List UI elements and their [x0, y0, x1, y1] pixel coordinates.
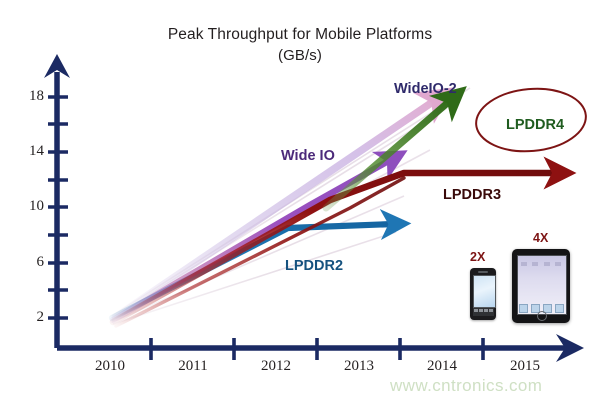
- tablet-home-button: [537, 311, 547, 321]
- series-label-wideio2: WideIO-2: [394, 81, 457, 97]
- chart-plot-area: [0, 0, 600, 403]
- chart-canvas: Peak Throughput for Mobile Platforms (GB…: [0, 0, 600, 403]
- tablet-multiplier-label: 4X: [533, 231, 548, 245]
- x-tick-label-2011: 2011: [166, 358, 220, 375]
- tablet-app-icons: [521, 261, 561, 267]
- phone-speaker: [478, 271, 488, 273]
- series-line-lpddr3-secondary: [116, 178, 404, 326]
- y-tick-label-6: 6: [14, 254, 44, 271]
- watermark: www.cntronics.com: [390, 376, 542, 396]
- x-tick-label-2012: 2012: [249, 358, 303, 375]
- series-label-wideio: Wide IO: [281, 148, 335, 164]
- tablet-icon: [512, 249, 570, 323]
- series-label-lpddr4: LPDDR4: [506, 117, 564, 133]
- y-tick-label-14: 14: [14, 143, 44, 160]
- series-line-wideio2: [114, 99, 437, 318]
- x-tick-label-2013: 2013: [332, 358, 386, 375]
- series-line-lpddr4: [326, 99, 452, 208]
- smartphone-icon: [470, 268, 496, 320]
- phone-keypad: [473, 308, 494, 316]
- series-label-lpddr2: LPDDR2: [285, 258, 343, 274]
- x-tick-label-2010: 2010: [83, 358, 137, 375]
- x-tick-label-2015: 2015: [498, 358, 552, 375]
- x-tick-label-2014: 2014: [415, 358, 469, 375]
- y-tick-label-10: 10: [14, 198, 44, 215]
- series-label-lpddr3: LPDDR3: [443, 187, 501, 203]
- phone-screen: [473, 275, 496, 308]
- y-tick-label-2: 2: [14, 309, 44, 326]
- y-tick-label-18: 18: [14, 88, 44, 105]
- phone-multiplier-label: 2X: [470, 250, 485, 264]
